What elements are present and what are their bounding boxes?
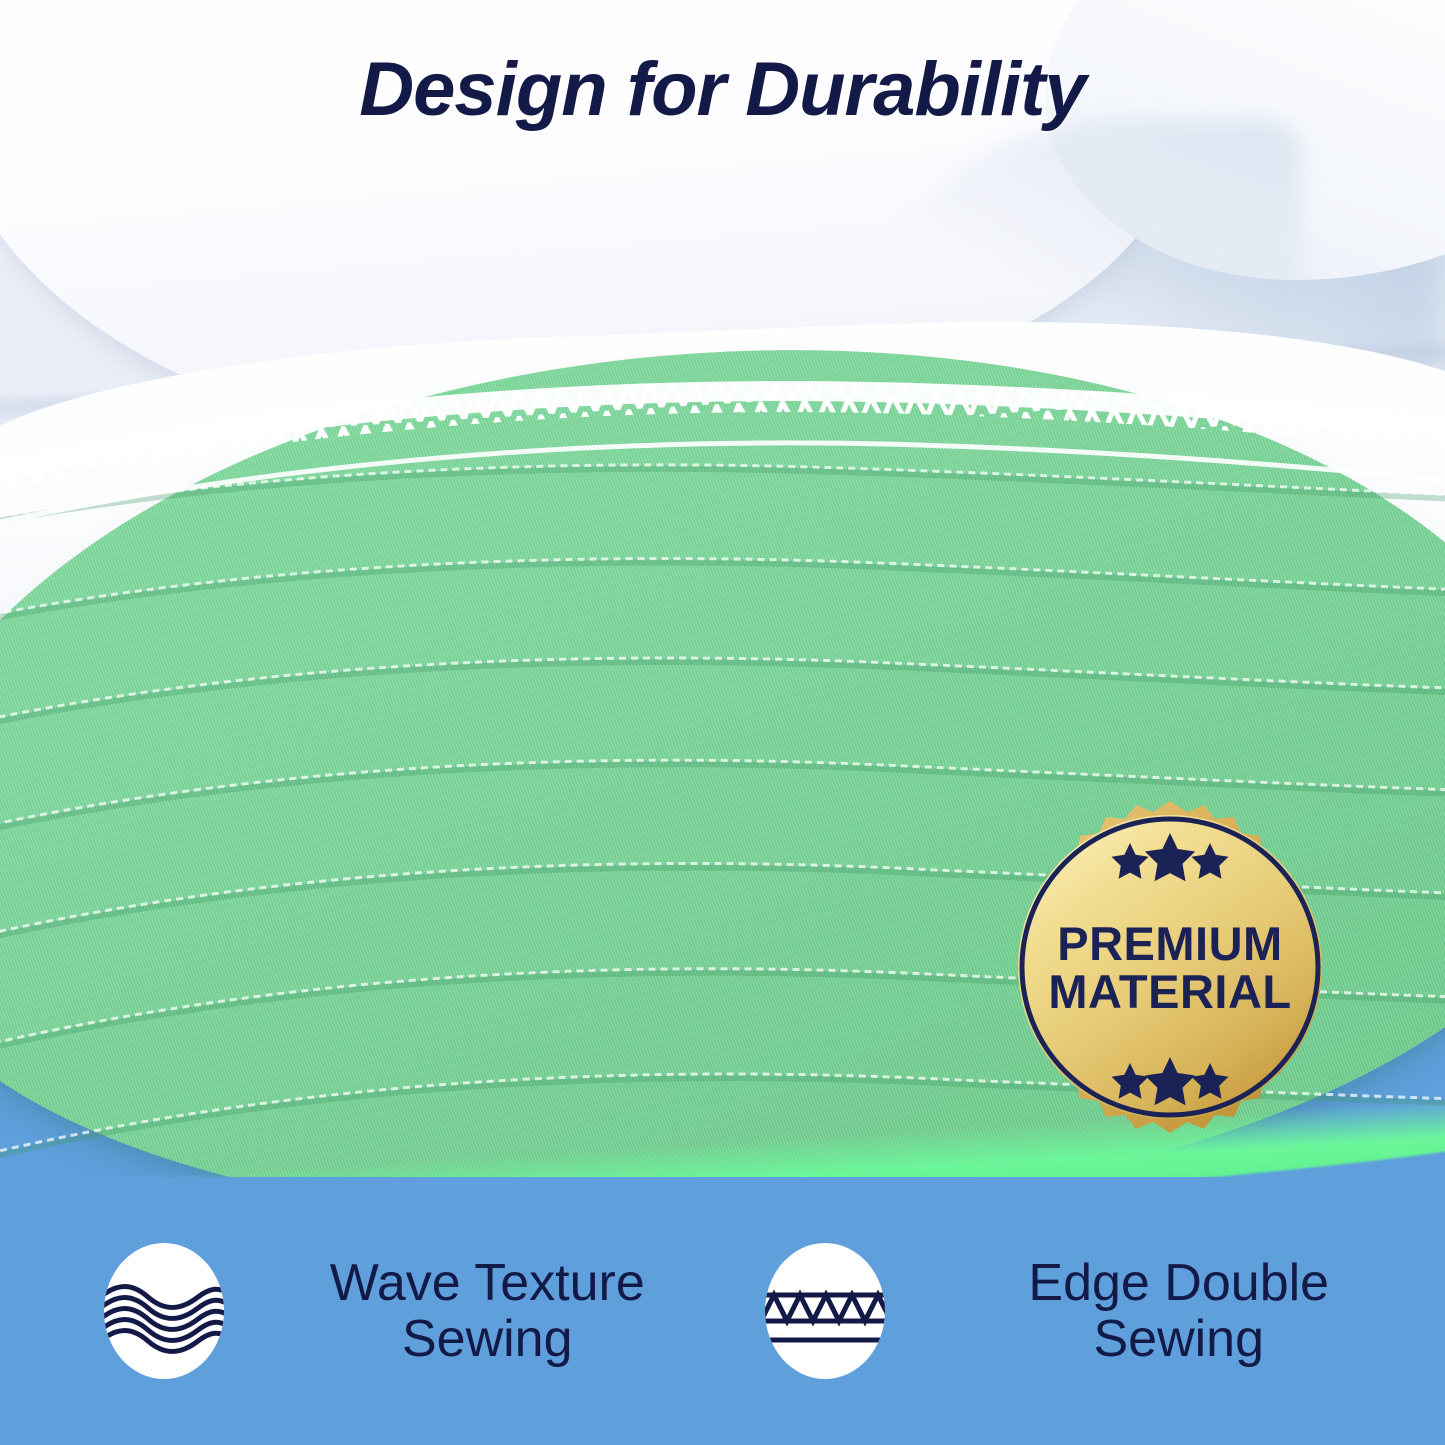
feature-edge-line-1: Edge Double: [1028, 1254, 1329, 1312]
feature-label-wave: Wave Texture Sewing: [252, 1255, 723, 1367]
feature-label-edge: Edge Double Sewing: [913, 1255, 1445, 1367]
feature-banner: Wave Texture Sewing Edge Double Sewing: [0, 1177, 1445, 1445]
feature-edge-line-2: Sewing: [1093, 1310, 1264, 1368]
badge-line-2: MATERIAL: [1048, 968, 1291, 1016]
badge-text: PREMIUM MATERIAL: [1005, 795, 1335, 1140]
edge-double-stitch-icon: [765, 1243, 885, 1379]
product-infographic: Design for Durability: [0, 0, 1445, 1445]
page-title: Design for Durability: [0, 46, 1445, 133]
badge-line-1: PREMIUM: [1057, 920, 1282, 968]
feature-wave-line-1: Wave Texture: [330, 1254, 645, 1312]
feature-edge-double-sewing: Edge Double Sewing: [723, 1243, 1445, 1379]
premium-material-badge: PREMIUM MATERIAL: [1005, 795, 1335, 1140]
feature-wave-texture-sewing: Wave Texture Sewing: [0, 1243, 723, 1379]
feature-wave-line-2: Sewing: [402, 1310, 573, 1368]
wave-texture-icon: [104, 1243, 224, 1379]
